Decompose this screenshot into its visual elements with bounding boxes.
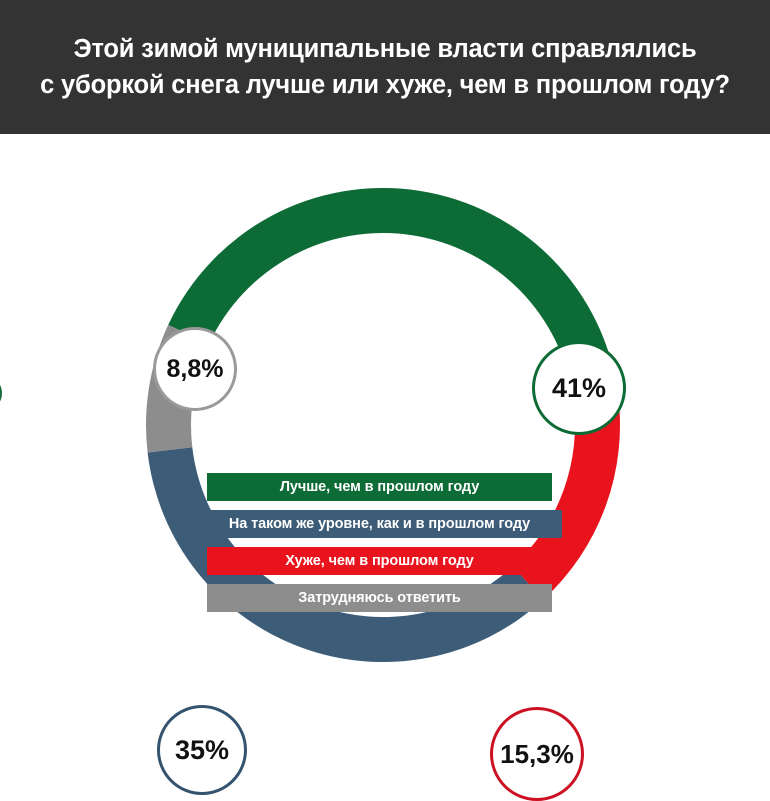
value-bubble-worse: 15,3% bbox=[490, 707, 584, 801]
legend-item-label: Затрудняюсь ответить bbox=[298, 590, 460, 606]
value-bubble-better: 41% bbox=[532, 341, 626, 435]
legend-item-label: Хуже, чем в прошлом году bbox=[285, 553, 473, 569]
donut-chart-svg bbox=[0, 134, 770, 699]
side-note-clipped: 8%) bbox=[0, 379, 3, 405]
value-bubble-undecided: 8,8% bbox=[153, 327, 237, 411]
legend-item-better[interactable]: Лучше, чем в прошлом году bbox=[207, 473, 552, 501]
value-bubble-label: 41% bbox=[552, 373, 606, 404]
page-title-line-1: Этой зимой муниципальные власти справлял… bbox=[74, 31, 697, 67]
legend-item-label: Лучше, чем в прошлом году bbox=[280, 479, 479, 495]
page-title-line-2: с уборкой снега лучше или хуже, чем в пр… bbox=[40, 67, 730, 103]
value-bubble-label: 8,8% bbox=[167, 355, 224, 384]
header-banner: Этой зимой муниципальные власти справлял… bbox=[0, 0, 770, 134]
legend: Лучше, чем в прошлом году На таком же ур… bbox=[207, 473, 552, 612]
legend-item-worse[interactable]: Хуже, чем в прошлом году bbox=[207, 547, 552, 575]
value-bubble-label: 15,3% bbox=[500, 739, 574, 770]
legend-item-label: На таком же уровне, как и в прошлом году bbox=[229, 516, 530, 532]
legend-item-same[interactable]: На таком же уровне, как и в прошлом году bbox=[197, 510, 562, 538]
value-bubble-label: 35% bbox=[175, 735, 229, 766]
donut-chart-area: 8%) Лучше, чем в прошлом году На таком ж… bbox=[0, 134, 770, 699]
legend-item-undecided[interactable]: Затрудняюсь ответить bbox=[207, 584, 552, 612]
value-bubble-same: 35% bbox=[157, 705, 247, 795]
